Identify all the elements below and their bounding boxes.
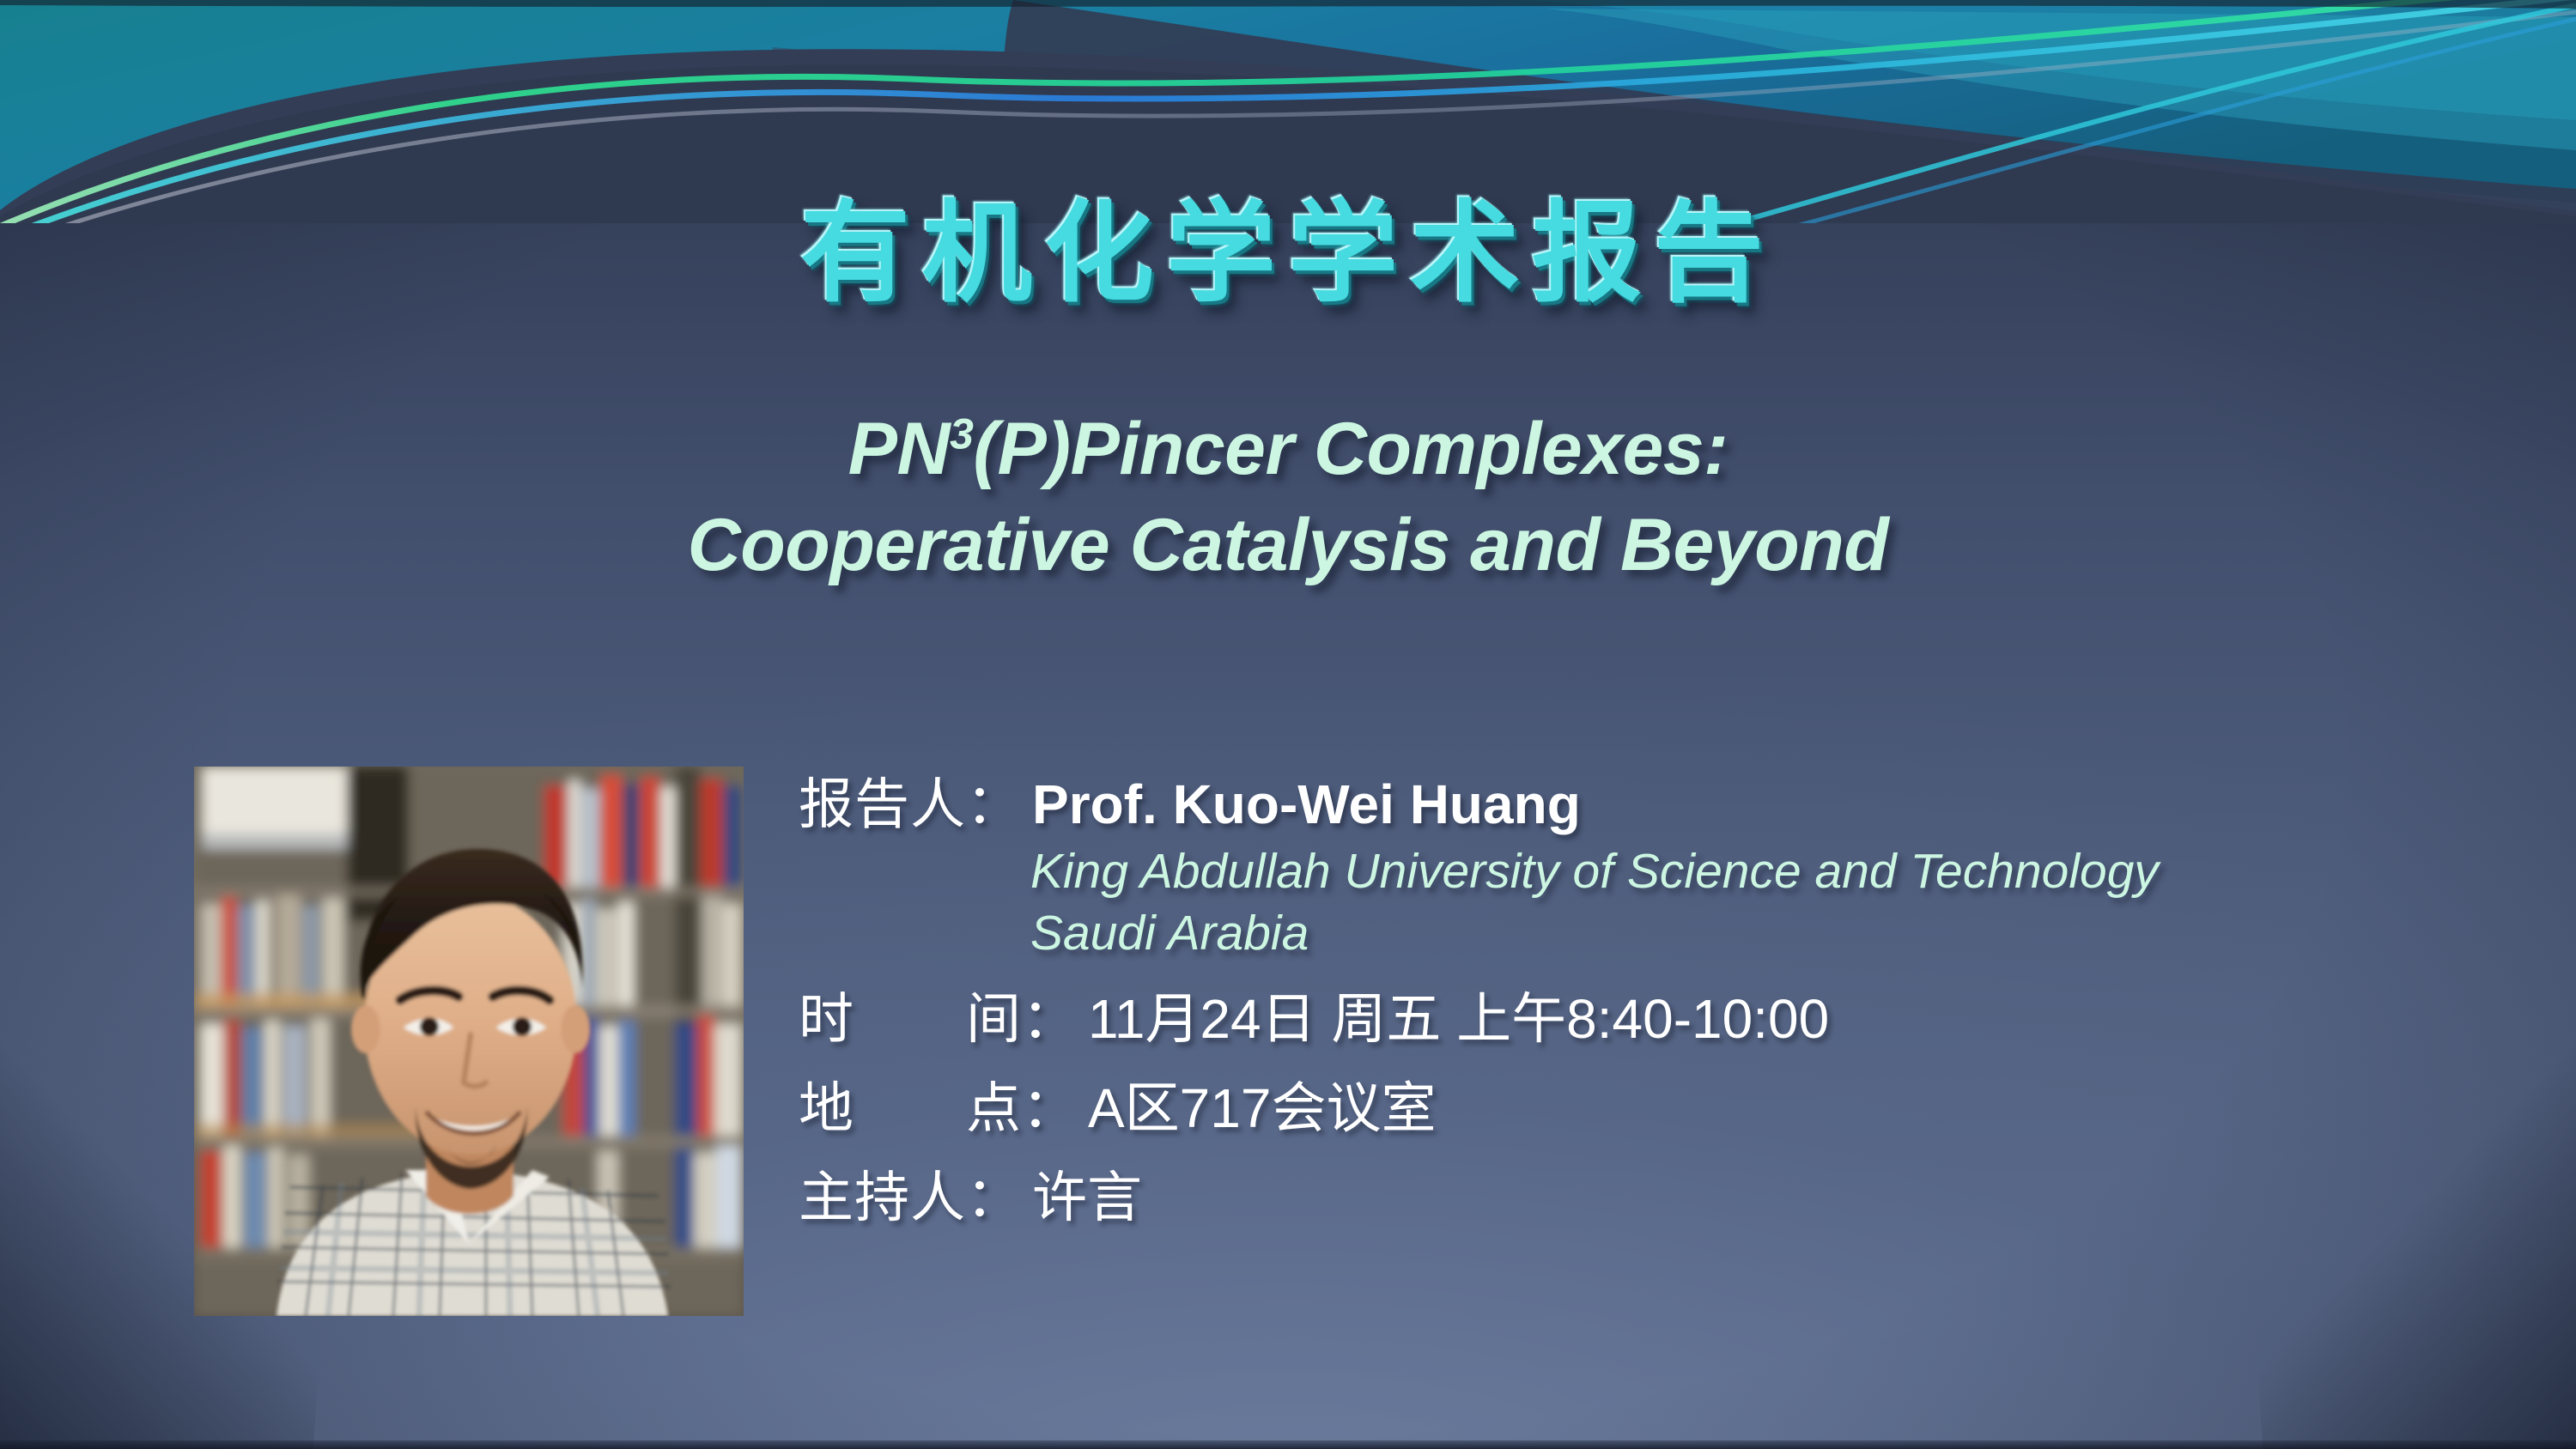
affiliation-line-1: King Abdullah University of Science and … xyxy=(1030,843,2159,900)
place-value: A区717会议室 xyxy=(1088,1064,1436,1143)
host-row: 主持人： 许言 xyxy=(799,1154,2533,1233)
affiliation-row-1: King Abdullah University of Science and … xyxy=(799,843,2533,900)
affiliation-row-2: Saudi Arabia xyxy=(799,905,2533,961)
place-label: 地 点： xyxy=(799,1064,1078,1143)
speaker-name: Prof. Kuo-Wei Huang xyxy=(1032,773,1581,836)
speaker-portrait-photo xyxy=(194,767,744,1316)
presentation-slide: 有机化学学术报告 PN3(P)Pincer Complexes: Coopera… xyxy=(0,0,2576,1449)
time-value: 11月24日 周五 上午8:40-10:00 xyxy=(1088,975,1829,1054)
event-details: 报告人： Prof. Kuo-Wei Huang King Abdullah U… xyxy=(799,761,2533,1233)
time-label: 时 间： xyxy=(799,975,1078,1054)
portrait-illustration xyxy=(194,767,744,1316)
affiliation-line-2: Saudi Arabia xyxy=(1030,905,1309,961)
speaker-label: 报告人： xyxy=(799,761,1022,840)
speaker-row: 报告人： Prof. Kuo-Wei Huang xyxy=(799,761,2533,840)
time-row: 时 间： 11月24日 周五 上午8:40-10:00 xyxy=(799,975,2533,1054)
decorative-wave-banner xyxy=(0,0,2576,223)
place-row: 地 点： A区717会议室 xyxy=(799,1064,2533,1143)
host-label: 主持人： xyxy=(799,1154,1022,1233)
host-value: 许言 xyxy=(1032,1154,1142,1233)
bottom-edge-line xyxy=(0,1440,2576,1449)
